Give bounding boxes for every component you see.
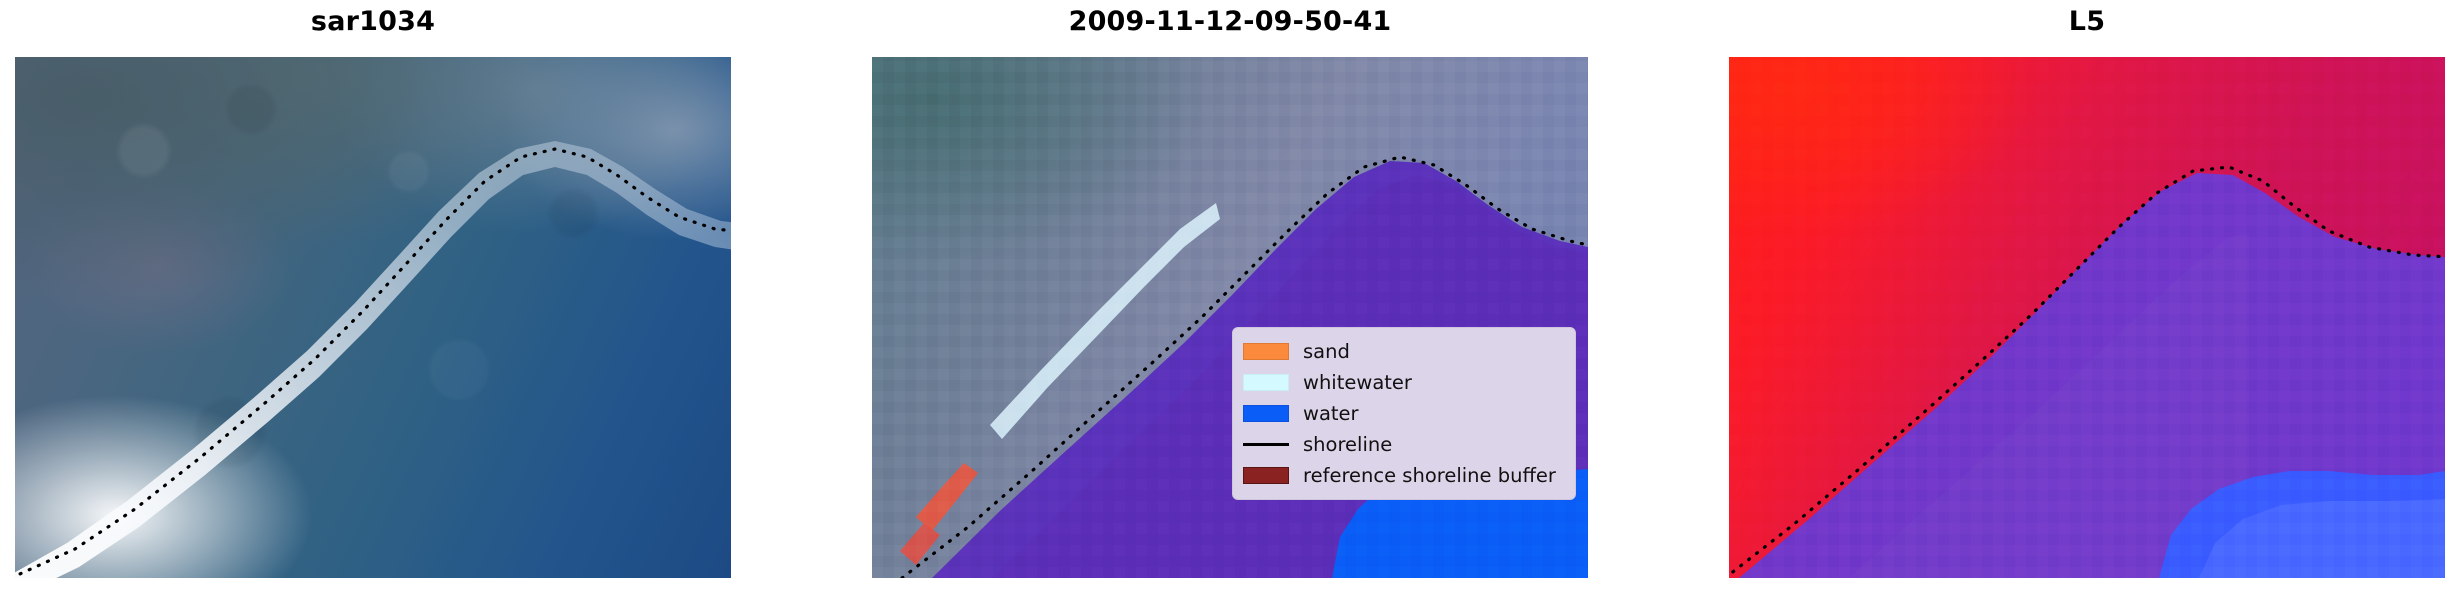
figure-root: sar1034 2009-11-12-09-50-41 (0, 0, 2460, 598)
sand-swatch-icon (1243, 343, 1289, 360)
legend-label-reference-shoreline-buffer: reference shoreline buffer (1303, 465, 1556, 487)
panel-title-l5: L5 (1729, 6, 2445, 38)
water-swatch-icon (1243, 405, 1289, 422)
l5-pixel-grid (1729, 57, 2445, 578)
legend-item-water: water (1243, 398, 1565, 429)
whitewater-swatch-icon (1243, 374, 1289, 391)
legend-label-shoreline: shoreline (1303, 434, 1392, 456)
panel-title-sar: sar1034 (15, 6, 731, 38)
reference-shoreline-buffer-swatch-icon (1243, 467, 1289, 484)
sar-image-texture (15, 57, 731, 578)
panel-l5 (1729, 57, 2445, 578)
legend-label-sand: sand (1303, 341, 1350, 363)
panel-sar (15, 57, 731, 578)
legend: sand whitewater water shoreline referenc… (1232, 327, 1576, 500)
legend-item-whitewater: whitewater (1243, 367, 1565, 398)
legend-item-reference-shoreline-buffer: reference shoreline buffer (1243, 460, 1565, 491)
shoreline-line-icon (1243, 436, 1289, 453)
panel-title-classified: 2009-11-12-09-50-41 (872, 6, 1588, 38)
legend-item-sand: sand (1243, 336, 1565, 367)
legend-item-shoreline: shoreline (1243, 429, 1565, 460)
legend-label-whitewater: whitewater (1303, 372, 1412, 394)
legend-label-water: water (1303, 403, 1359, 425)
